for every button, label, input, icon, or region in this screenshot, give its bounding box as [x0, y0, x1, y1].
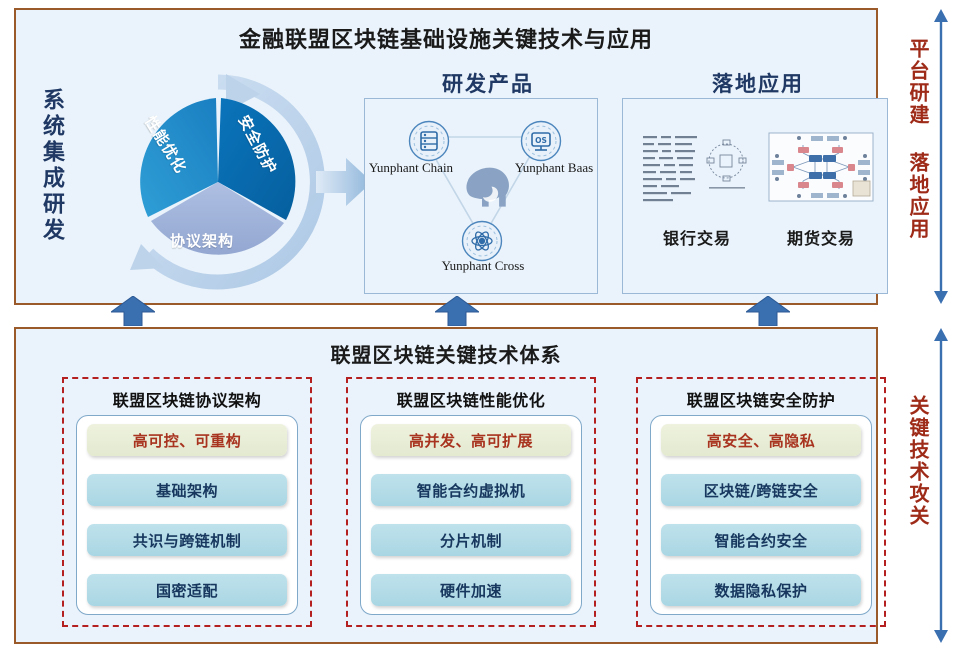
donut-svg	[108, 72, 328, 292]
double-arrow-vertical-icon	[932, 327, 950, 644]
applications-box: 银行交易	[622, 98, 888, 294]
key-technology-caption: 关键技术攻关	[906, 395, 930, 595]
elephant-logo	[466, 168, 509, 207]
tech-chip[interactable]: 共识与跨链机制	[87, 524, 287, 556]
tech-chip[interactable]: 数据隐私保护	[661, 574, 861, 606]
up-arrow-icon	[435, 296, 479, 326]
product-label-yunphant-cross: Yunphant Cross	[423, 259, 543, 274]
application-caption-futures: 期货交易	[763, 225, 879, 249]
tech-chip[interactable]: 智能合约虚拟机	[371, 474, 571, 506]
svg-text:OS: OS	[535, 136, 547, 145]
tech-chip-list: 高可控、可重构 基础架构 共识与跨链机制 国密适配	[76, 415, 298, 615]
tech-chip[interactable]: 高安全、高隐私	[661, 424, 861, 456]
tech-column-security-protection: 联盟区块链安全防护 高安全、高隐私 区块链/跨链安全 智能合约安全 数据隐私保护	[636, 377, 886, 627]
key-technology-system-panel: 联盟区块链关键技术体系 联盟区块链协议架构 高可控、可重构 基础架构 共识与跨链…	[14, 327, 878, 644]
application-caption-bank: 银行交易	[637, 225, 757, 249]
application-item-futures: 期货交易	[763, 127, 879, 249]
tech-chip-list: 高并发、高可扩展 智能合约虚拟机 分片机制 硬件加速	[360, 415, 582, 615]
product-label-yunphant-chain: Yunphant Chain	[368, 161, 454, 176]
tech-chip[interactable]: 高可控、可重构	[87, 424, 287, 456]
application-item-bank: 银行交易	[637, 127, 757, 249]
tech-chip[interactable]: 区块链/跨链安全	[661, 474, 861, 506]
donut-segment-label-protocol: 协议架构	[170, 230, 234, 251]
applications-heading: 落地应用	[628, 68, 888, 98]
page-title: 金融联盟区块链基础设施关键技术与应用	[16, 22, 876, 54]
system-integration-caption: 系统集成研发	[38, 88, 64, 288]
atom-cross-chain-icon	[463, 222, 502, 261]
tech-column-protocol-architecture: 联盟区块链协议架构 高可控、可重构 基础架构 共识与跨链机制 国密适配	[62, 377, 312, 627]
up-arrow-icon	[746, 296, 790, 326]
monitor-os-icon: OS	[522, 122, 561, 161]
tech-chip[interactable]: 分片机制	[371, 524, 571, 556]
product-label-yunphant-baas: Yunphant Baas	[511, 161, 597, 176]
network-topology-thumbnail	[763, 127, 879, 219]
products-heading: 研发产品	[378, 68, 598, 98]
tech-chip-list: 高安全、高隐私 区块链/跨链安全 智能合约安全 数据隐私保护	[650, 415, 872, 615]
tech-column-title: 联盟区块链性能优化	[348, 387, 594, 411]
platform-construction-panel: 金融联盟区块链基础设施关键技术与应用 系统集成研发	[14, 8, 878, 305]
diagram-canvas: 金融联盟区块链基础设施关键技术与应用 系统集成研发	[0, 0, 965, 658]
bottom-panel-title: 联盟区块链关键技术体系	[16, 339, 876, 368]
tech-column-title: 联盟区块链安全防护	[638, 387, 884, 411]
products-box: OS Yunphant Chain Yunphant Baas Yunphant…	[364, 98, 598, 294]
document-network-thumbnail	[637, 127, 757, 219]
tech-chip[interactable]: 硬件加速	[371, 574, 571, 606]
server-rack-icon	[410, 122, 449, 161]
tech-chip[interactable]: 国密适配	[87, 574, 287, 606]
tech-column-title: 联盟区块链协议架构	[64, 387, 310, 411]
up-arrow-icon	[111, 296, 155, 326]
platform-construction-caption: 平台研建 落地应用	[906, 38, 930, 278]
tech-column-performance-optimization: 联盟区块链性能优化 高并发、高可扩展 智能合约虚拟机 分片机制 硬件加速	[346, 377, 596, 627]
tech-chip[interactable]: 基础架构	[87, 474, 287, 506]
capability-donut-chart: 性能优化 安全防护 协议架构	[108, 72, 328, 292]
tech-chip[interactable]: 高并发、高可扩展	[371, 424, 571, 456]
tech-chip[interactable]: 智能合约安全	[661, 524, 861, 556]
double-arrow-vertical-icon	[932, 8, 950, 305]
